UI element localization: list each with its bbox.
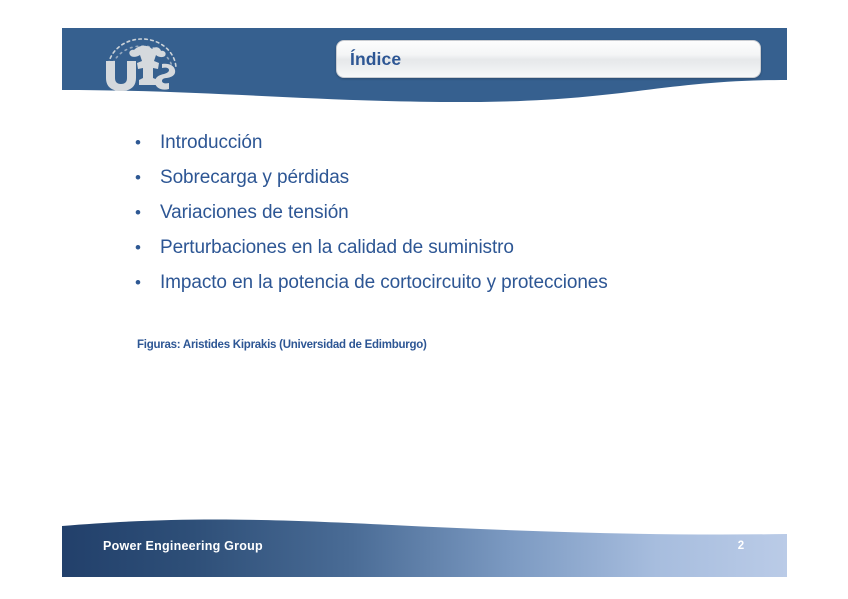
bullet-icon: • [130, 239, 160, 256]
bullet-icon: • [130, 204, 160, 221]
list-item: • Introducción [130, 132, 790, 167]
slide-title-box: Índice [336, 40, 761, 78]
bullet-icon: • [130, 169, 160, 186]
logo-letter-u [106, 61, 136, 91]
list-item: • Sobrecarga y pérdidas [130, 167, 790, 202]
list-item: • Perturbaciones en la calidad de sumini… [130, 237, 790, 272]
bullet-icon: • [130, 134, 160, 151]
list-item-label: Sobrecarga y pérdidas [160, 167, 349, 189]
list-item: • Impacto en la potencia de cortocircuit… [130, 272, 790, 307]
bullet-icon: • [130, 274, 160, 291]
page-number: 2 [733, 540, 749, 552]
list-item-label: Introducción [160, 132, 262, 154]
list-item: • Variaciones de tensión [130, 202, 790, 237]
bullet-list: • Introducción • Sobrecarga y pérdidas •… [130, 132, 790, 307]
list-item-label: Perturbaciones en la calidad de suminist… [160, 237, 514, 259]
figure-attribution: Figuras: Aristides Kiprakis (Universidad… [137, 339, 427, 351]
footer-group-label: Power Engineering Group [103, 539, 263, 553]
list-item-label: Impacto en la potencia de cortocircuito … [160, 272, 608, 294]
universidad-de-sevilla-logo [96, 30, 192, 92]
page-title: Índice [350, 49, 401, 70]
presentation-slide: Índice • Introducción • Sobrecarga y pér… [0, 0, 848, 599]
list-item-label: Variaciones de tensión [160, 202, 349, 224]
